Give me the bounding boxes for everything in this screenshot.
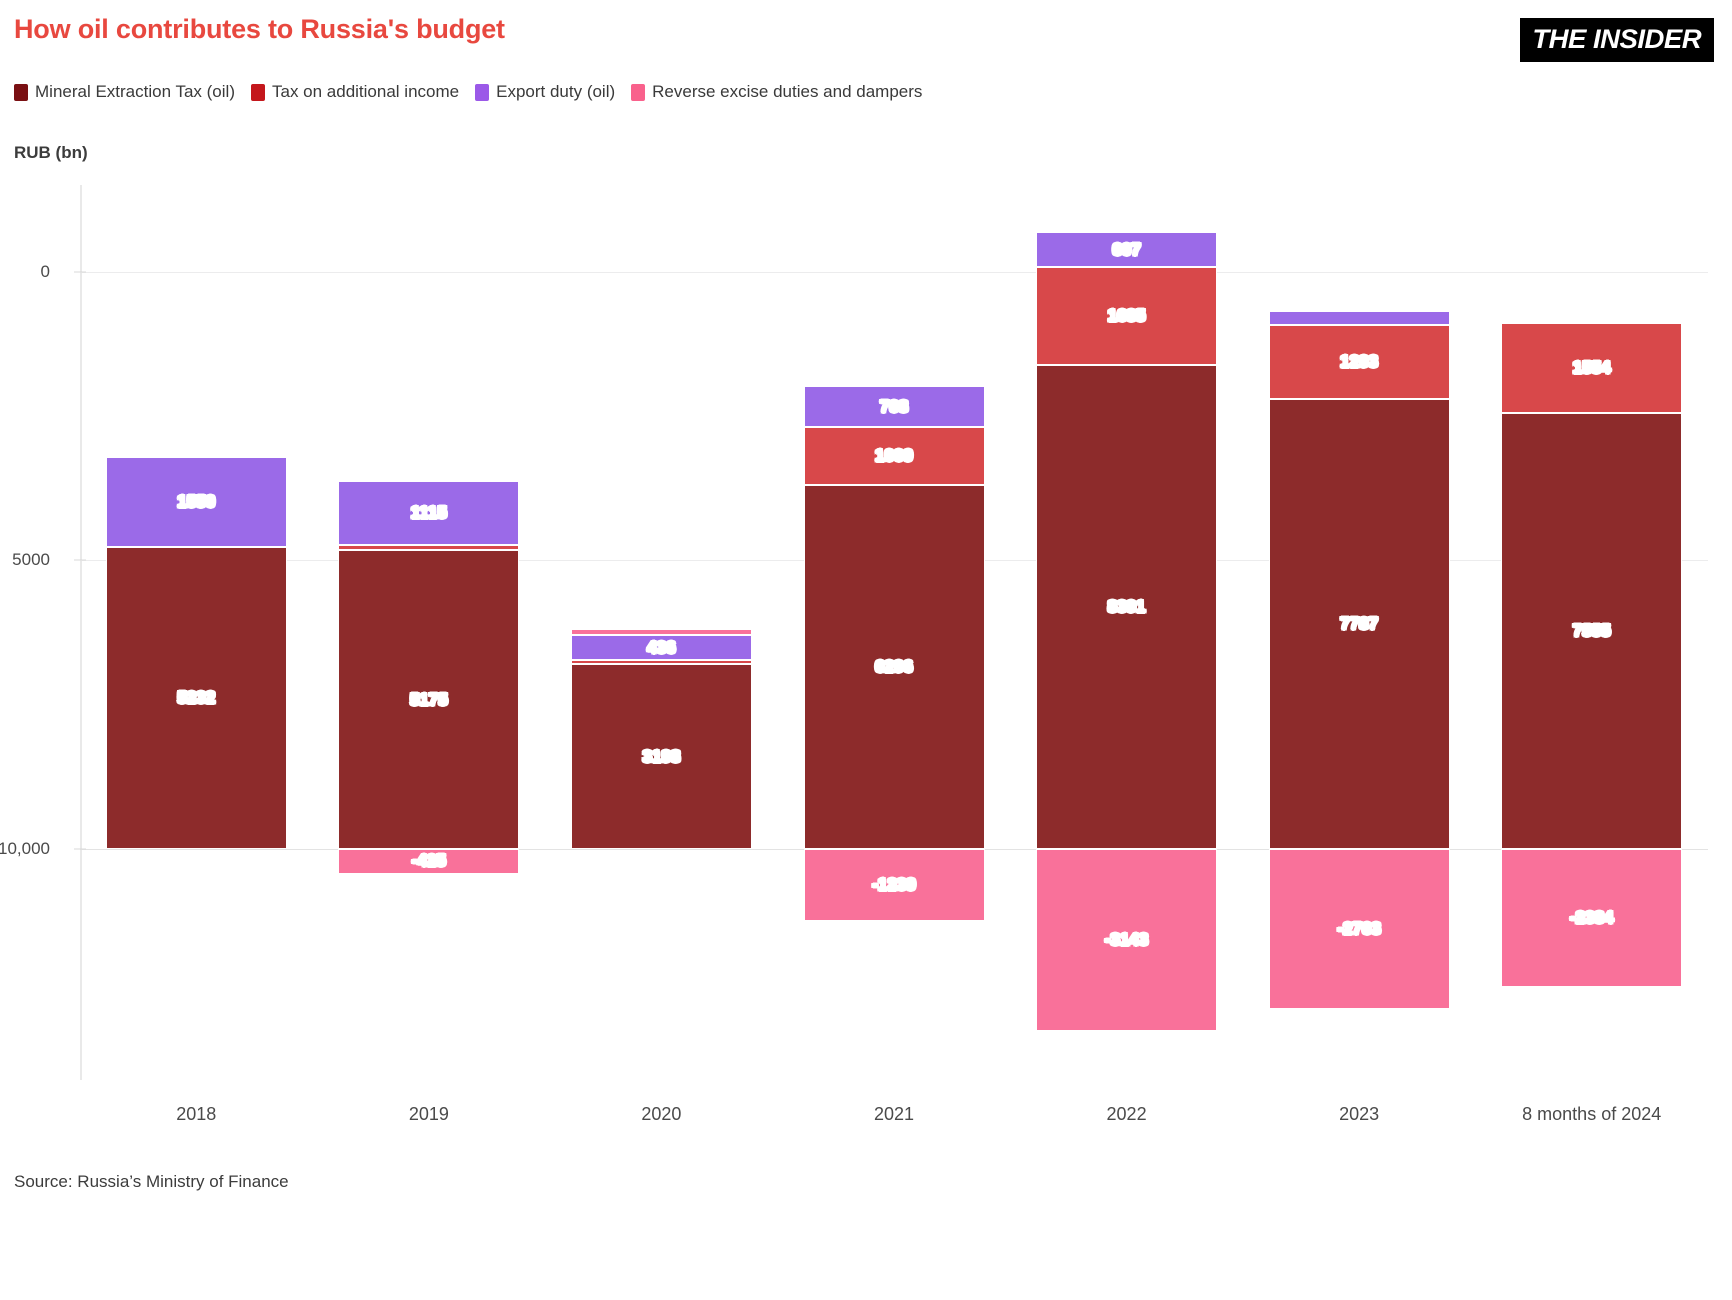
page-title: How oil contributes to Russia's budget bbox=[14, 14, 505, 45]
bar-segment[interactable] bbox=[338, 545, 519, 550]
bar-segment[interactable]: 1009 bbox=[804, 427, 985, 485]
bar-group[interactable]: 83911685607-3143 bbox=[1036, 185, 1217, 1080]
plot-area: 10,000500005232155051751115-425319843662… bbox=[80, 185, 1708, 1080]
bar-value-label: -2384 bbox=[1570, 908, 1613, 928]
y-axis-tick-label: 0 bbox=[0, 262, 50, 282]
bar-value-label: 8391 bbox=[1108, 597, 1146, 617]
legend-item[interactable]: Reverse excise duties and dampers bbox=[631, 82, 922, 102]
legend-item[interactable]: Mineral Extraction Tax (oil) bbox=[14, 82, 235, 102]
bar-value-label: 436 bbox=[647, 638, 675, 658]
y-axis-tick-mark bbox=[74, 271, 86, 272]
chart-page: How oil contributes to Russia's budget T… bbox=[0, 0, 1732, 1300]
legend-item-label: Export duty (oil) bbox=[496, 82, 615, 102]
chart-legend: Mineral Extraction Tax (oil)Tax on addit… bbox=[14, 82, 938, 102]
legend-swatch-icon bbox=[475, 84, 489, 101]
y-axis-line bbox=[80, 185, 82, 1080]
x-axis-tick-label: 2023 bbox=[1339, 1104, 1379, 1125]
bar-value-label: 6296 bbox=[875, 657, 913, 677]
bar-segment[interactable]: 7787 bbox=[1269, 399, 1450, 849]
bar-segment[interactable]: 1115 bbox=[338, 481, 519, 545]
bar-value-label: 1554 bbox=[1573, 358, 1611, 378]
bar-segment-negative[interactable]: -2384 bbox=[1501, 849, 1682, 987]
bar-segment[interactable]: 1554 bbox=[1501, 323, 1682, 413]
y-axis-tick-label: 5000 bbox=[0, 550, 50, 570]
bar-value-label: 1009 bbox=[875, 446, 913, 466]
bar-segment[interactable] bbox=[571, 660, 752, 664]
bar-value-label: 7555 bbox=[1573, 621, 1611, 641]
bar-group[interactable]: 52321550 bbox=[106, 185, 287, 1080]
legend-item[interactable]: Export duty (oil) bbox=[475, 82, 615, 102]
bar-group[interactable]: 62961009708-1239 bbox=[804, 185, 985, 1080]
y-axis-tick-mark bbox=[74, 849, 86, 850]
bar-segment-negative[interactable]: -1239 bbox=[804, 849, 985, 921]
bar-segment-negative[interactable]: -3143 bbox=[1036, 849, 1217, 1030]
bar-segment[interactable]: 8391 bbox=[1036, 365, 1217, 850]
bar-value-label: 1685 bbox=[1108, 306, 1146, 326]
bar-segment[interactable]: 5232 bbox=[106, 547, 287, 849]
legend-swatch-icon bbox=[631, 84, 645, 101]
bar-value-label: 5175 bbox=[410, 690, 448, 710]
bar-value-label: 1293 bbox=[1340, 352, 1378, 372]
legend-item-label: Reverse excise duties and dampers bbox=[652, 82, 922, 102]
bar-segment[interactable]: 3198 bbox=[571, 664, 752, 849]
x-axis-tick-label: 2020 bbox=[641, 1104, 681, 1125]
legend-item-label: Mineral Extraction Tax (oil) bbox=[35, 82, 235, 102]
legend-item[interactable]: Tax on additional income bbox=[251, 82, 459, 102]
bar-segment[interactable]: 1685 bbox=[1036, 267, 1217, 364]
bar-segment[interactable]: 7555 bbox=[1501, 413, 1682, 849]
x-axis-tick-label: 2022 bbox=[1107, 1104, 1147, 1125]
legend-swatch-icon bbox=[14, 84, 28, 101]
x-axis-tick-label: 2018 bbox=[176, 1104, 216, 1125]
bar-value-label: 3198 bbox=[643, 747, 681, 767]
legend-swatch-icon bbox=[251, 84, 265, 101]
bar-segment[interactable]: 1293 bbox=[1269, 325, 1450, 400]
bar-value-label: 1115 bbox=[411, 503, 447, 523]
bar-value-label: 5232 bbox=[177, 688, 215, 708]
y-axis-tick-mark bbox=[74, 560, 86, 561]
bar-group[interactable]: 77871293-2763 bbox=[1269, 185, 1450, 1080]
y-axis-title: RUB (bn) bbox=[14, 143, 88, 163]
bar-segment[interactable]: 708 bbox=[804, 386, 985, 427]
bar-value-label: -2763 bbox=[1337, 919, 1380, 939]
bar-segment[interactable]: 6296 bbox=[804, 485, 985, 849]
bar-group[interactable]: 3198436 bbox=[571, 185, 752, 1080]
x-axis-tick-label: 2019 bbox=[409, 1104, 449, 1125]
x-axis-tick-label: 8 months of 2024 bbox=[1522, 1104, 1661, 1125]
legend-item-label: Tax on additional income bbox=[272, 82, 459, 102]
bar-segment[interactable] bbox=[571, 629, 752, 635]
bar-segment-negative[interactable]: -2763 bbox=[1269, 849, 1450, 1009]
the-insider-logo: THE INSIDER bbox=[1520, 18, 1714, 62]
bar-group[interactable]: 75551554-2384 bbox=[1501, 185, 1682, 1080]
bar-group[interactable]: 51751115-425 bbox=[338, 185, 519, 1080]
bar-value-label: 7787 bbox=[1340, 614, 1378, 634]
bar-value-label: 607 bbox=[1112, 240, 1140, 260]
bar-segment[interactable]: 5175 bbox=[338, 550, 519, 849]
bar-segment[interactable] bbox=[1269, 311, 1450, 325]
x-axis-tick-label: 2021 bbox=[874, 1104, 914, 1125]
bar-segment[interactable]: 1550 bbox=[106, 457, 287, 547]
bar-segment-negative[interactable]: -425 bbox=[338, 849, 519, 874]
bar-value-label: -1239 bbox=[872, 875, 915, 895]
y-axis-tick-label: 10,000 bbox=[0, 839, 50, 859]
bar-segment[interactable]: 436 bbox=[571, 635, 752, 660]
source-note: Source: Russia’s Ministry of Finance bbox=[14, 1172, 289, 1192]
bar-value-label: 1550 bbox=[177, 492, 215, 512]
bar-value-label: 708 bbox=[880, 397, 908, 417]
bar-value-label: -425 bbox=[412, 851, 446, 871]
logo-text: THE INSIDER bbox=[1533, 24, 1702, 55]
bar-value-label: -3143 bbox=[1105, 930, 1148, 950]
bar-segment[interactable]: 607 bbox=[1036, 232, 1217, 267]
